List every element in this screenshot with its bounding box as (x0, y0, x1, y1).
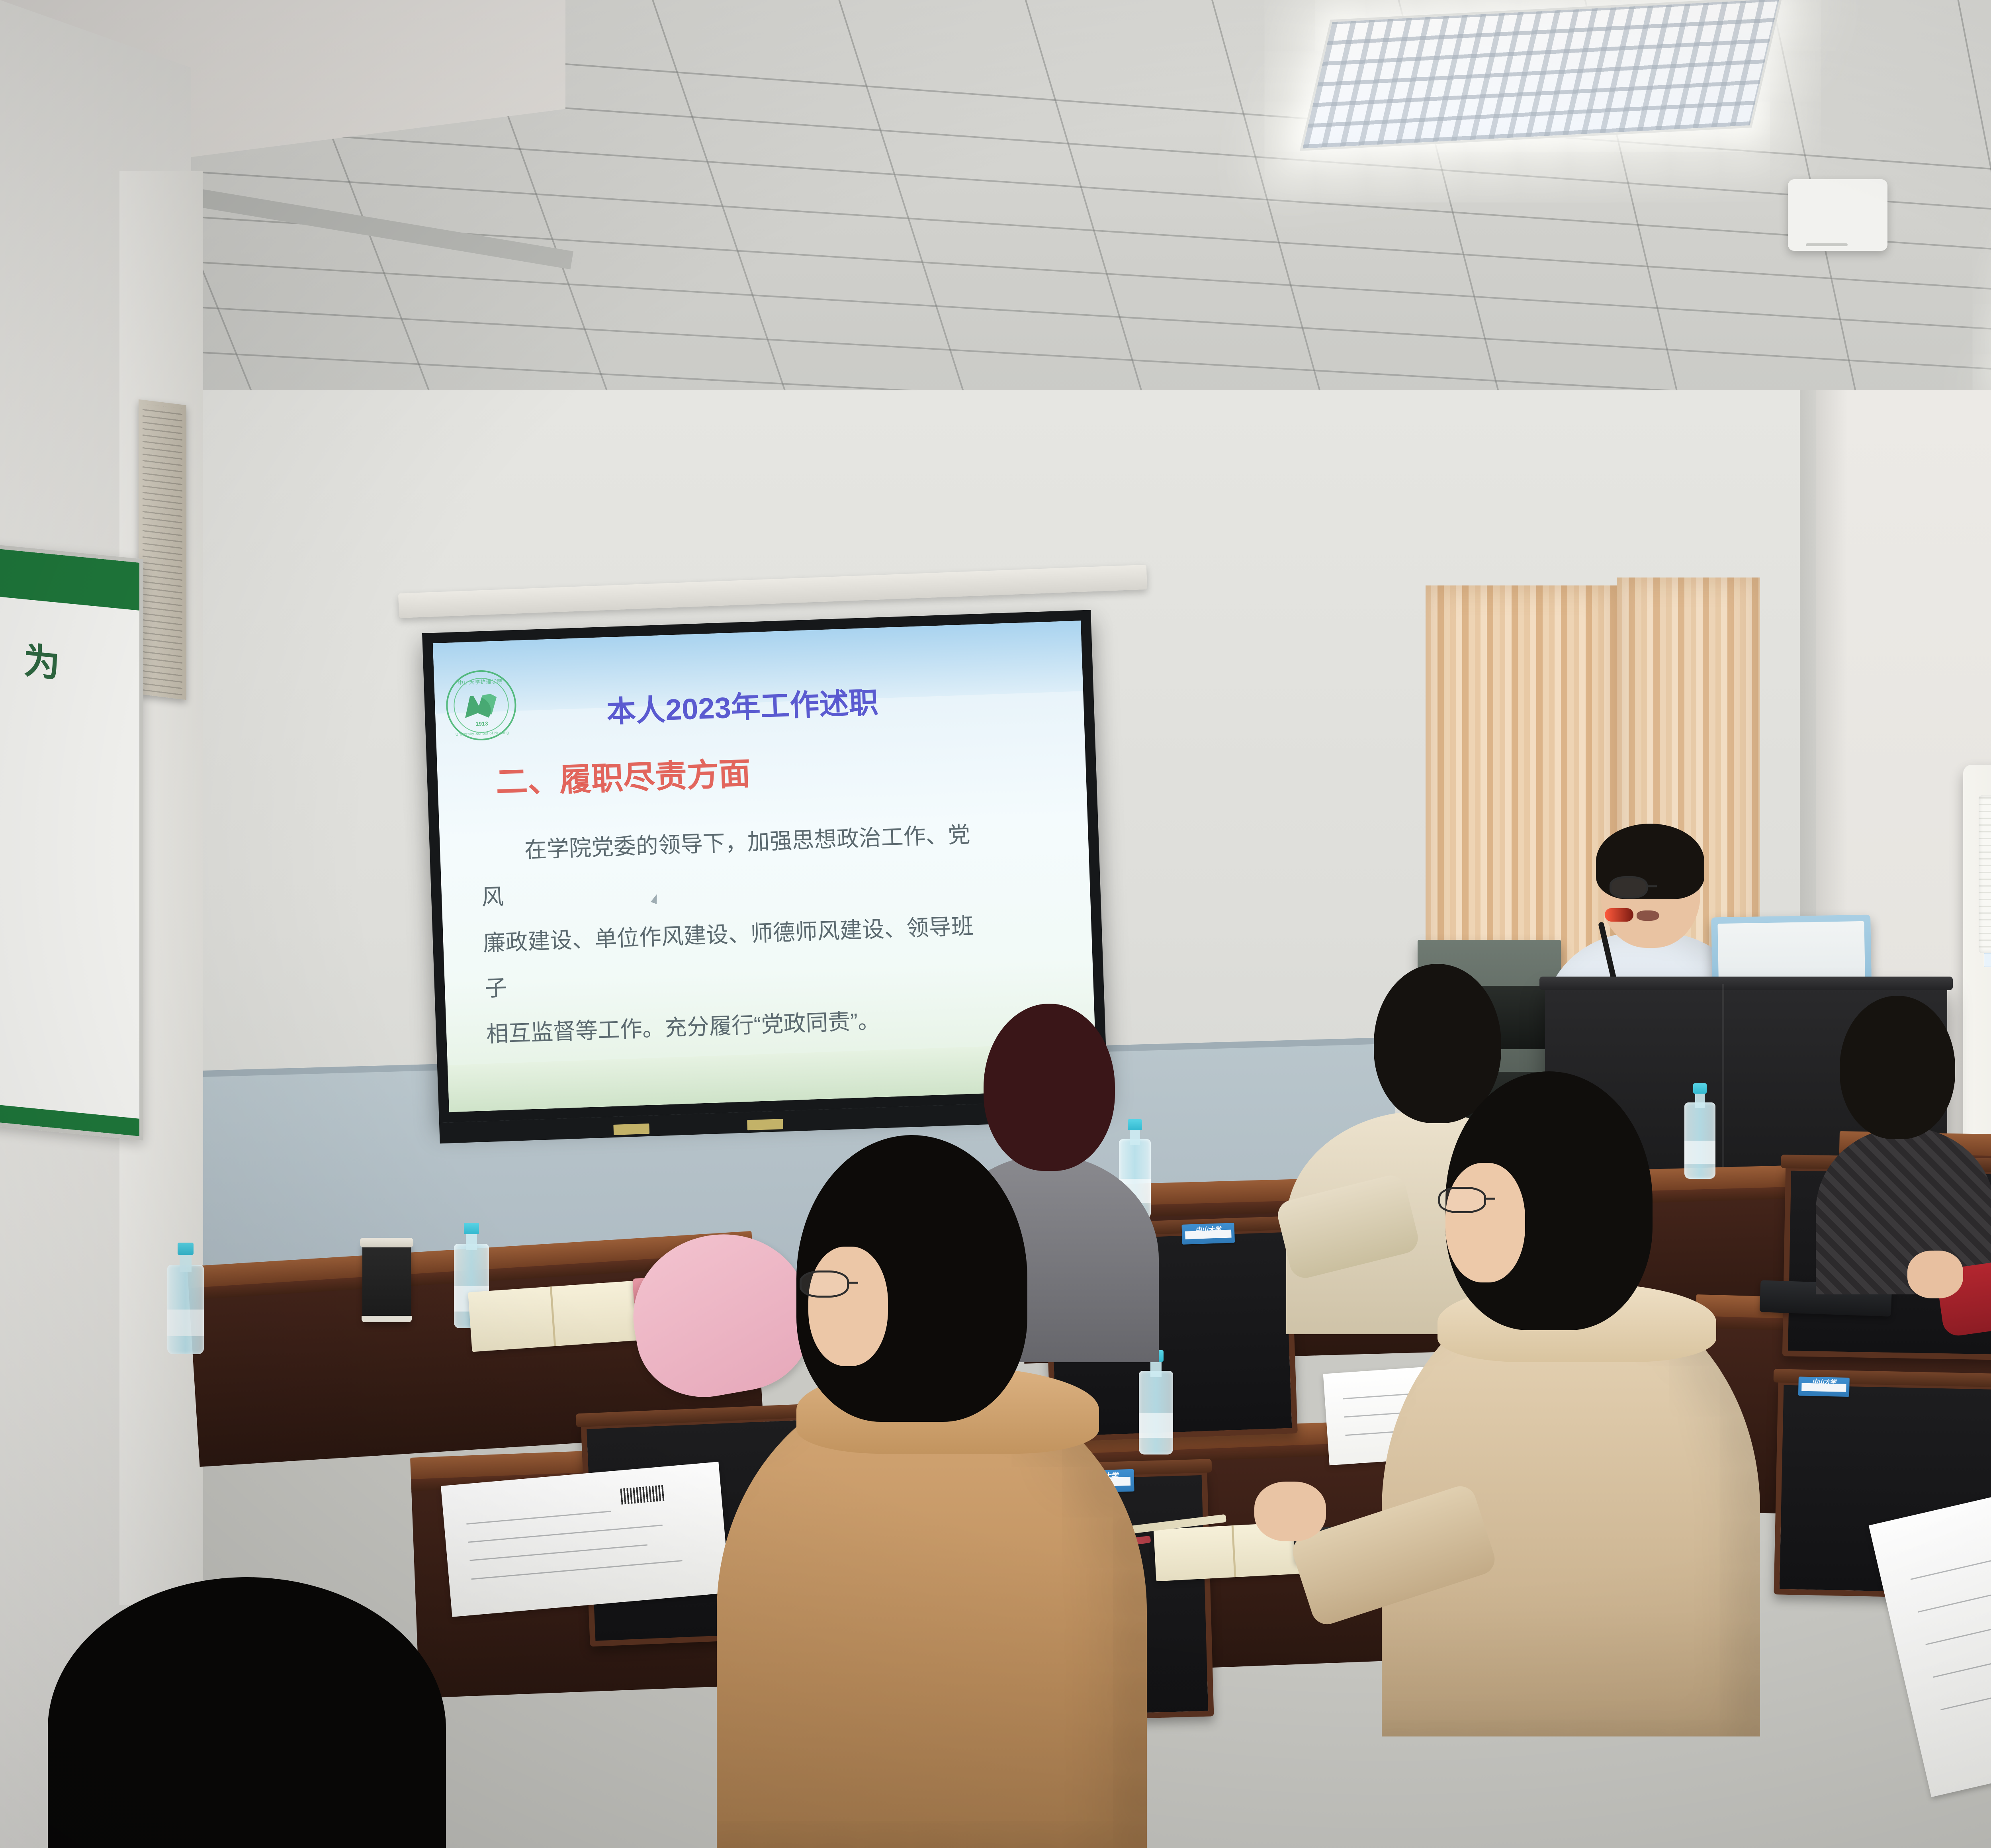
asset-tag-band (1801, 1383, 1846, 1392)
slide-heading: 二、履职尽责方面 (495, 748, 751, 803)
presenter-glasses-icon (1610, 876, 1648, 899)
bottle-cap (464, 1223, 479, 1234)
slide-body: 在学院党委的领导下，加强思想政治工作、党风 廉政建设、单位作风建设、师德师风建设… (479, 811, 988, 1057)
attendee-head (48, 1577, 446, 1848)
attendee-head (1840, 996, 1955, 1139)
cup-base (362, 1316, 412, 1322)
speaker-mesh (143, 404, 182, 695)
chair-asset-tag: 中山大学 (1798, 1376, 1850, 1397)
slide-body-line: 廉政建设、单位作风建设、师德师风建设、领导班子 (482, 903, 987, 1012)
attendee-face (1445, 1163, 1525, 1282)
document-line (1911, 1531, 1991, 1580)
water-bottle (167, 1243, 204, 1354)
document-line (1940, 1664, 1991, 1710)
notebook-spine (550, 1286, 556, 1346)
attendee-beige-trench (1330, 1059, 1788, 1736)
poster-title: 生 行 为 (0, 617, 72, 689)
left-wall-speaker-icon (139, 399, 186, 700)
attendee-plaid-dark (1816, 996, 1991, 1274)
coffee-cup (362, 1243, 411, 1322)
attendee-glasses-icon (1438, 1187, 1486, 1213)
document-line (471, 1560, 682, 1580)
document-line (1925, 1591, 1991, 1645)
attendee-face (808, 1247, 888, 1366)
ceiling-light-1 (1300, 0, 1782, 151)
microphone-head (1605, 908, 1633, 922)
slide-body-line: 在学院党委的领导下，加强思想政治工作、党风 (479, 811, 984, 920)
document-line (466, 1511, 611, 1525)
document-line (469, 1545, 647, 1561)
smoke-detector-icon (1788, 179, 1887, 251)
presenter-mouth (1637, 910, 1659, 921)
document-line (468, 1525, 662, 1543)
attendee-hand (1907, 1251, 1963, 1298)
light-louver (1303, 0, 1780, 149)
document-qr-code (620, 1485, 665, 1505)
ac-spec-label (1984, 953, 1991, 967)
notebook (468, 1281, 639, 1352)
attendee-camel-coat (677, 1127, 1187, 1848)
asset-tag-band (1185, 1230, 1232, 1239)
chair-asset-tag: 中山大学 (1182, 1223, 1235, 1245)
cup-rim (360, 1238, 413, 1247)
slide-title: 本人2023年工作述职 (606, 679, 879, 731)
podium-top-surface (1539, 977, 1953, 990)
screen-weight-tab (613, 1124, 649, 1135)
logo-arc-bottom: University School of Nursing (449, 730, 516, 737)
attendee-glasses-icon (800, 1270, 849, 1298)
notebook-spine (1232, 1525, 1236, 1577)
ac-vent-grille (1979, 795, 1991, 953)
slide-org-logo-icon: 中山大学护理学院 1913 University School of Nursi… (445, 669, 517, 742)
wall-poster: 生 行 为 信 念 。 人 民 。 不 息 。 正 气 。 律 己 。 友 爱 … (0, 532, 143, 1141)
document-line (1918, 1553, 1991, 1613)
bottle-label (167, 1310, 204, 1336)
meeting-room-photo: 生 行 为 信 念 。 人 民 。 不 息 。 正 气 。 律 己 。 友 爱 … (0, 0, 1991, 1848)
document-line (1933, 1614, 1991, 1678)
attendee-foreground-dark (48, 1577, 486, 1848)
bottle-cap (178, 1243, 194, 1255)
attendee-hand (1254, 1482, 1326, 1541)
